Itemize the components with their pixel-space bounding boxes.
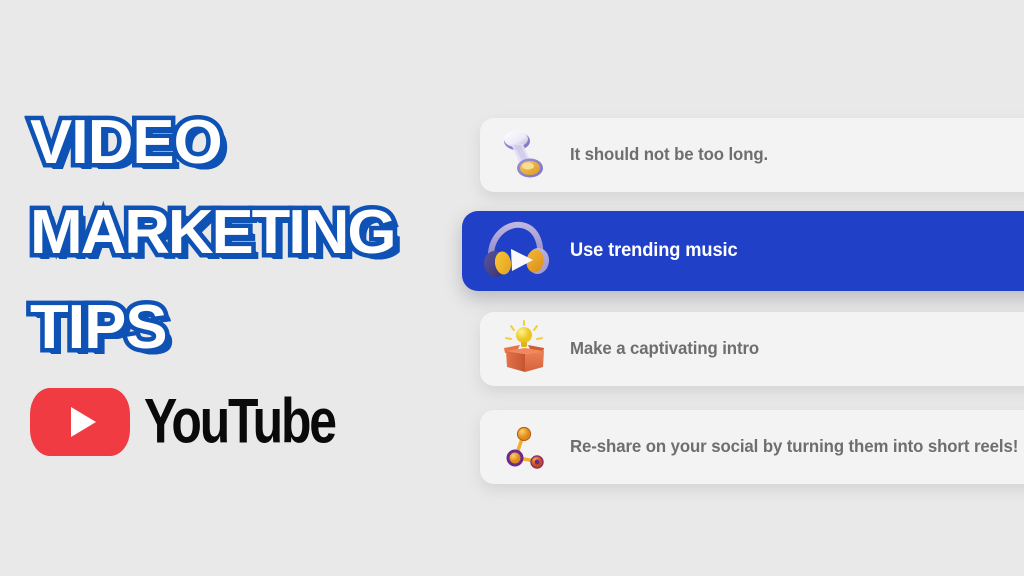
tip-label: Use trending music xyxy=(570,239,738,262)
idea-box-icon xyxy=(494,320,558,378)
tip-label: Re-share on your social by turning them … xyxy=(570,436,1018,457)
tip-label: It should not be too long. xyxy=(570,144,768,165)
tip-card-music[interactable]: Use trending music xyxy=(462,211,1024,291)
tips-list: It should not be too long. xyxy=(0,0,1024,576)
tip-card-intro[interactable]: Make a captivating intro xyxy=(480,312,1024,386)
tip-card-duration[interactable]: It should not be too long. xyxy=(480,118,1024,192)
tip-card-reshare[interactable]: Re-share on your social by turning them … xyxy=(480,410,1024,484)
share-network-icon xyxy=(494,418,558,476)
hourglass-icon xyxy=(494,126,558,184)
headphones-play-icon xyxy=(478,219,550,283)
tip-label: Make a captivating intro xyxy=(570,338,759,359)
